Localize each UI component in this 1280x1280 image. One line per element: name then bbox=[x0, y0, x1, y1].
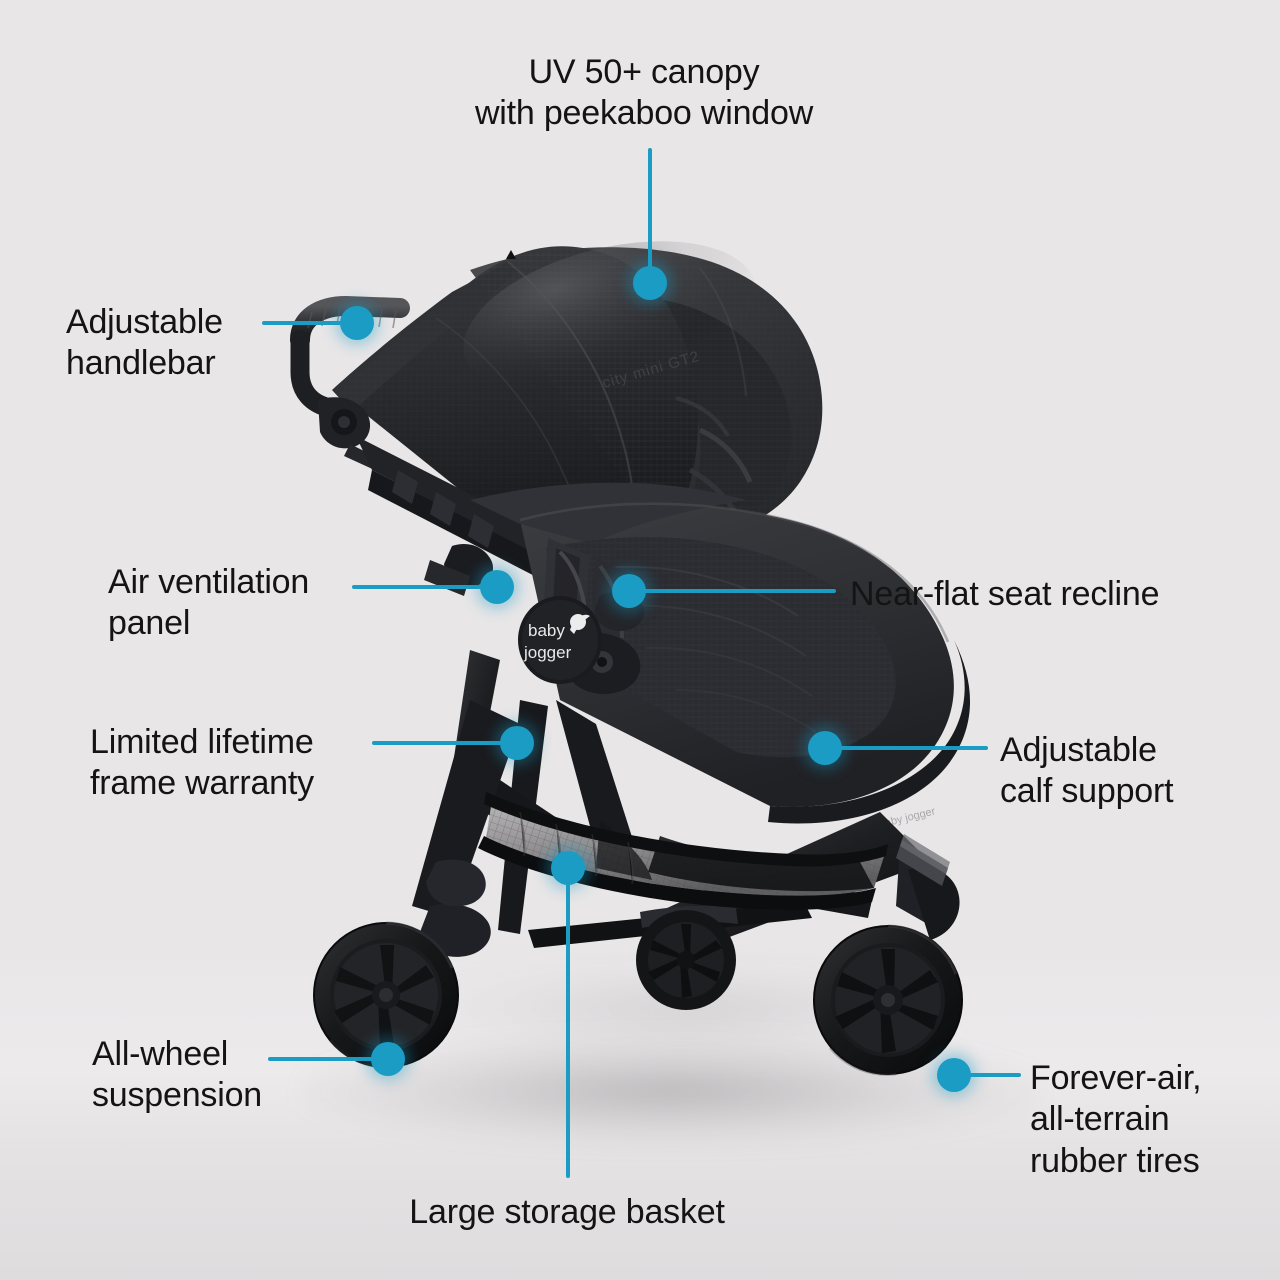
callout-line-storage-basket bbox=[566, 882, 570, 1178]
callout-dot-storage-basket[interactable] bbox=[551, 851, 585, 885]
callout-label-rubber-tires: Forever-air, all-terrain rubber tires bbox=[1030, 1058, 1270, 1182]
callout-label-all-wheel-suspension: All-wheel suspension bbox=[92, 1034, 312, 1117]
callout-line-rubber-tires bbox=[969, 1073, 1021, 1077]
svg-text:baby: baby bbox=[528, 621, 565, 640]
svg-text:jogger: jogger bbox=[523, 643, 572, 662]
callout-line-calf-support bbox=[838, 746, 988, 750]
callout-line-seat-recline bbox=[640, 589, 836, 593]
callout-line-all-wheel-suspension bbox=[268, 1057, 386, 1061]
callout-dot-air-ventilation[interactable] bbox=[480, 570, 514, 604]
callout-label-seat-recline: Near-flat seat recline bbox=[850, 574, 1250, 615]
callout-label-storage-basket: Large storage basket bbox=[372, 1192, 762, 1233]
callout-label-handlebar: Adjustable handlebar bbox=[66, 302, 286, 385]
callout-dot-canopy[interactable] bbox=[633, 266, 667, 300]
callout-label-frame-warranty: Limited lifetime frame warranty bbox=[90, 722, 380, 805]
callout-dot-calf-support[interactable] bbox=[808, 731, 842, 765]
callout-label-calf-support: Adjustable calf support bbox=[1000, 730, 1260, 813]
infographic-canvas: city mini GT2 bbox=[0, 0, 1280, 1280]
callout-line-canopy bbox=[648, 148, 652, 280]
callout-dot-all-wheel-suspension[interactable] bbox=[371, 1042, 405, 1076]
callout-label-air-ventilation: Air ventilation panel bbox=[108, 562, 358, 645]
callout-line-air-ventilation bbox=[352, 585, 500, 589]
callout-label-canopy: UV 50+ canopy with peekaboo window bbox=[404, 52, 884, 135]
callout-dot-frame-warranty[interactable] bbox=[500, 726, 534, 760]
callout-dot-handlebar[interactable] bbox=[340, 306, 374, 340]
callout-line-frame-warranty bbox=[372, 741, 520, 745]
callout-dot-rubber-tires[interactable] bbox=[937, 1058, 971, 1092]
callout-dot-seat-recline[interactable] bbox=[612, 574, 646, 608]
